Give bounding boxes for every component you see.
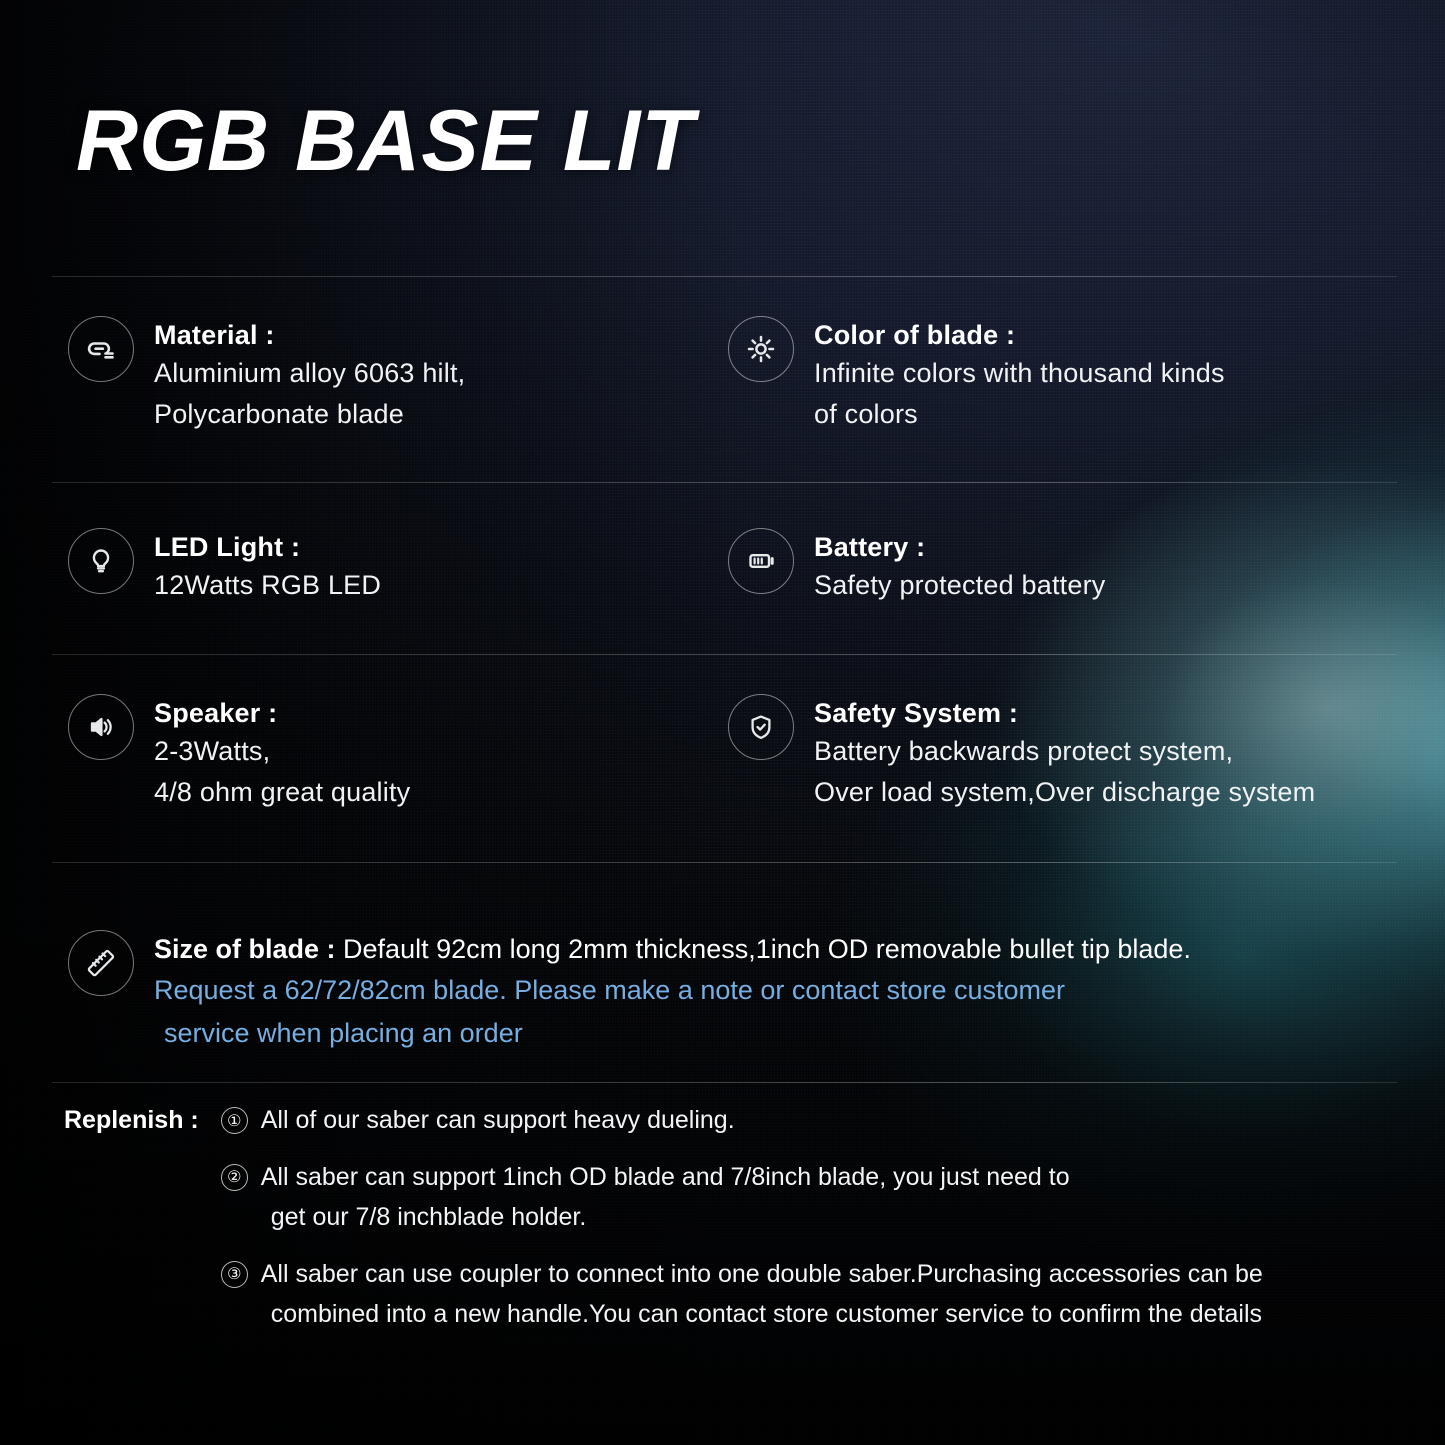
spec-color-value: Infinite colors with thousand kinds of c… (814, 353, 1225, 434)
divider-1 (52, 276, 1397, 277)
spec-line: Safety protected battery (814, 565, 1105, 606)
spec-line: of colors (814, 394, 1225, 435)
spec-line: Aluminium alloy 6063 hilt, (154, 353, 465, 394)
shield-check-icon (728, 694, 794, 760)
spec-speaker-text: Speaker : 2-3Watts, 4/8 ohm great qualit… (154, 694, 410, 812)
spec-size-of-blade: Size of blade : Default 92cm long 2mm th… (68, 930, 1408, 1054)
spec-battery-label: Battery : (814, 530, 1105, 565)
page-title: RGB BASE LIT (76, 98, 695, 184)
divider-4 (52, 862, 1397, 863)
spec-speaker-value: 2-3Watts, 4/8 ohm great quality (154, 731, 410, 812)
size-of-blade-note-line-2: service when placing an order (154, 1012, 1191, 1055)
spec-led-label: LED Light : (154, 530, 381, 565)
spec-safety-value: Battery backwards protect system, Over l… (814, 731, 1315, 812)
spec-line: Over load system,Over discharge system (814, 772, 1315, 813)
spec-line: 4/8 ohm great quality (154, 772, 410, 813)
replenish-line: combined into a new handle.You can conta… (261, 1294, 1263, 1335)
size-of-blade-text: Size of blade : Default 92cm long 2mm th… (154, 930, 1191, 1054)
spec-safety-text: Safety System : Battery backwards protec… (814, 694, 1315, 812)
spec-speaker-label: Speaker : (154, 696, 410, 731)
replenish-line: All saber can support 1inch OD blade and… (261, 1157, 1070, 1198)
replenish-section: Replenish : ① All of our saber can suppo… (64, 1100, 1424, 1351)
spec-line: Battery backwards protect system, (814, 731, 1315, 772)
size-of-blade-value: Default 92cm long 2mm thickness,1inch OD… (336, 934, 1191, 964)
replenish-number-3: ③ (221, 1261, 248, 1288)
spec-battery: Battery : Safety protected battery (728, 528, 1105, 606)
replenish-number-2: ② (221, 1164, 248, 1191)
speaker-volume-icon (68, 694, 134, 760)
spec-material-value: Aluminium alloy 6063 hilt, Polycarbonate… (154, 353, 465, 434)
lightbulb-icon (68, 528, 134, 594)
spec-safety-system: Safety System : Battery backwards protec… (728, 694, 1315, 812)
ruler-icon (68, 930, 134, 996)
spec-led-light: LED Light : 12Watts RGB LED (68, 528, 381, 606)
spec-led-text: LED Light : 12Watts RGB LED (154, 528, 381, 606)
size-of-blade-label: Size of blade : (154, 934, 336, 964)
replenish-line: All of our saber can support heavy dueli… (261, 1100, 735, 1141)
replenish-body-1: All of our saber can support heavy dueli… (261, 1100, 735, 1141)
replenish-item: ② All saber can support 1inch OD blade a… (221, 1157, 1424, 1238)
replenish-line: get our 7/8 inchblade holder. (261, 1197, 1070, 1238)
spec-battery-text: Battery : Safety protected battery (814, 528, 1105, 606)
replenish-items: ① All of our saber can support heavy due… (221, 1100, 1424, 1351)
divider-3 (52, 654, 1397, 655)
spec-material-label: Material : (154, 318, 465, 353)
spec-led-value: 12Watts RGB LED (154, 565, 381, 606)
replenish-line: All saber can use coupler to connect int… (261, 1254, 1263, 1295)
spec-color-of-blade: Color of blade : Infinite colors with th… (728, 316, 1225, 434)
replenish-body-2: All saber can support 1inch OD blade and… (261, 1157, 1070, 1238)
product-spec-banner: RGB BASE LIT Material : Aluminium alloy … (0, 0, 1445, 1445)
replenish-item: ③ All saber can use coupler to connect i… (221, 1254, 1424, 1335)
spec-line: 12Watts RGB LED (154, 565, 381, 606)
spec-safety-label: Safety System : (814, 696, 1315, 731)
divider-2 (52, 482, 1397, 483)
spec-battery-value: Safety protected battery (814, 565, 1105, 606)
spec-material-text: Material : Aluminium alloy 6063 hilt, Po… (154, 316, 465, 434)
replenish-item: ① All of our saber can support heavy due… (221, 1100, 1424, 1141)
divider-5 (52, 1082, 1397, 1083)
size-of-blade-note-line-1: Request a 62/72/82cm blade. Please make … (154, 969, 1191, 1012)
spec-color-label: Color of blade : (814, 318, 1225, 353)
spec-color-text: Color of blade : Infinite colors with th… (814, 316, 1225, 434)
brightness-sun-icon (728, 316, 794, 382)
spec-line: 2-3Watts, (154, 731, 410, 772)
replenish-body-3: All saber can use coupler to connect int… (261, 1254, 1263, 1335)
spec-line: Infinite colors with thousand kinds (814, 353, 1225, 394)
spec-speaker: Speaker : 2-3Watts, 4/8 ohm great qualit… (68, 694, 410, 812)
spec-material: Material : Aluminium alloy 6063 hilt, Po… (68, 316, 465, 434)
replenish-label: Replenish : (64, 1100, 221, 1141)
material-link-icon (68, 316, 134, 382)
battery-icon (728, 528, 794, 594)
replenish-number-1: ① (221, 1107, 248, 1134)
size-of-blade-primary: Size of blade : Default 92cm long 2mm th… (154, 930, 1191, 969)
spec-line: Polycarbonate blade (154, 394, 465, 435)
